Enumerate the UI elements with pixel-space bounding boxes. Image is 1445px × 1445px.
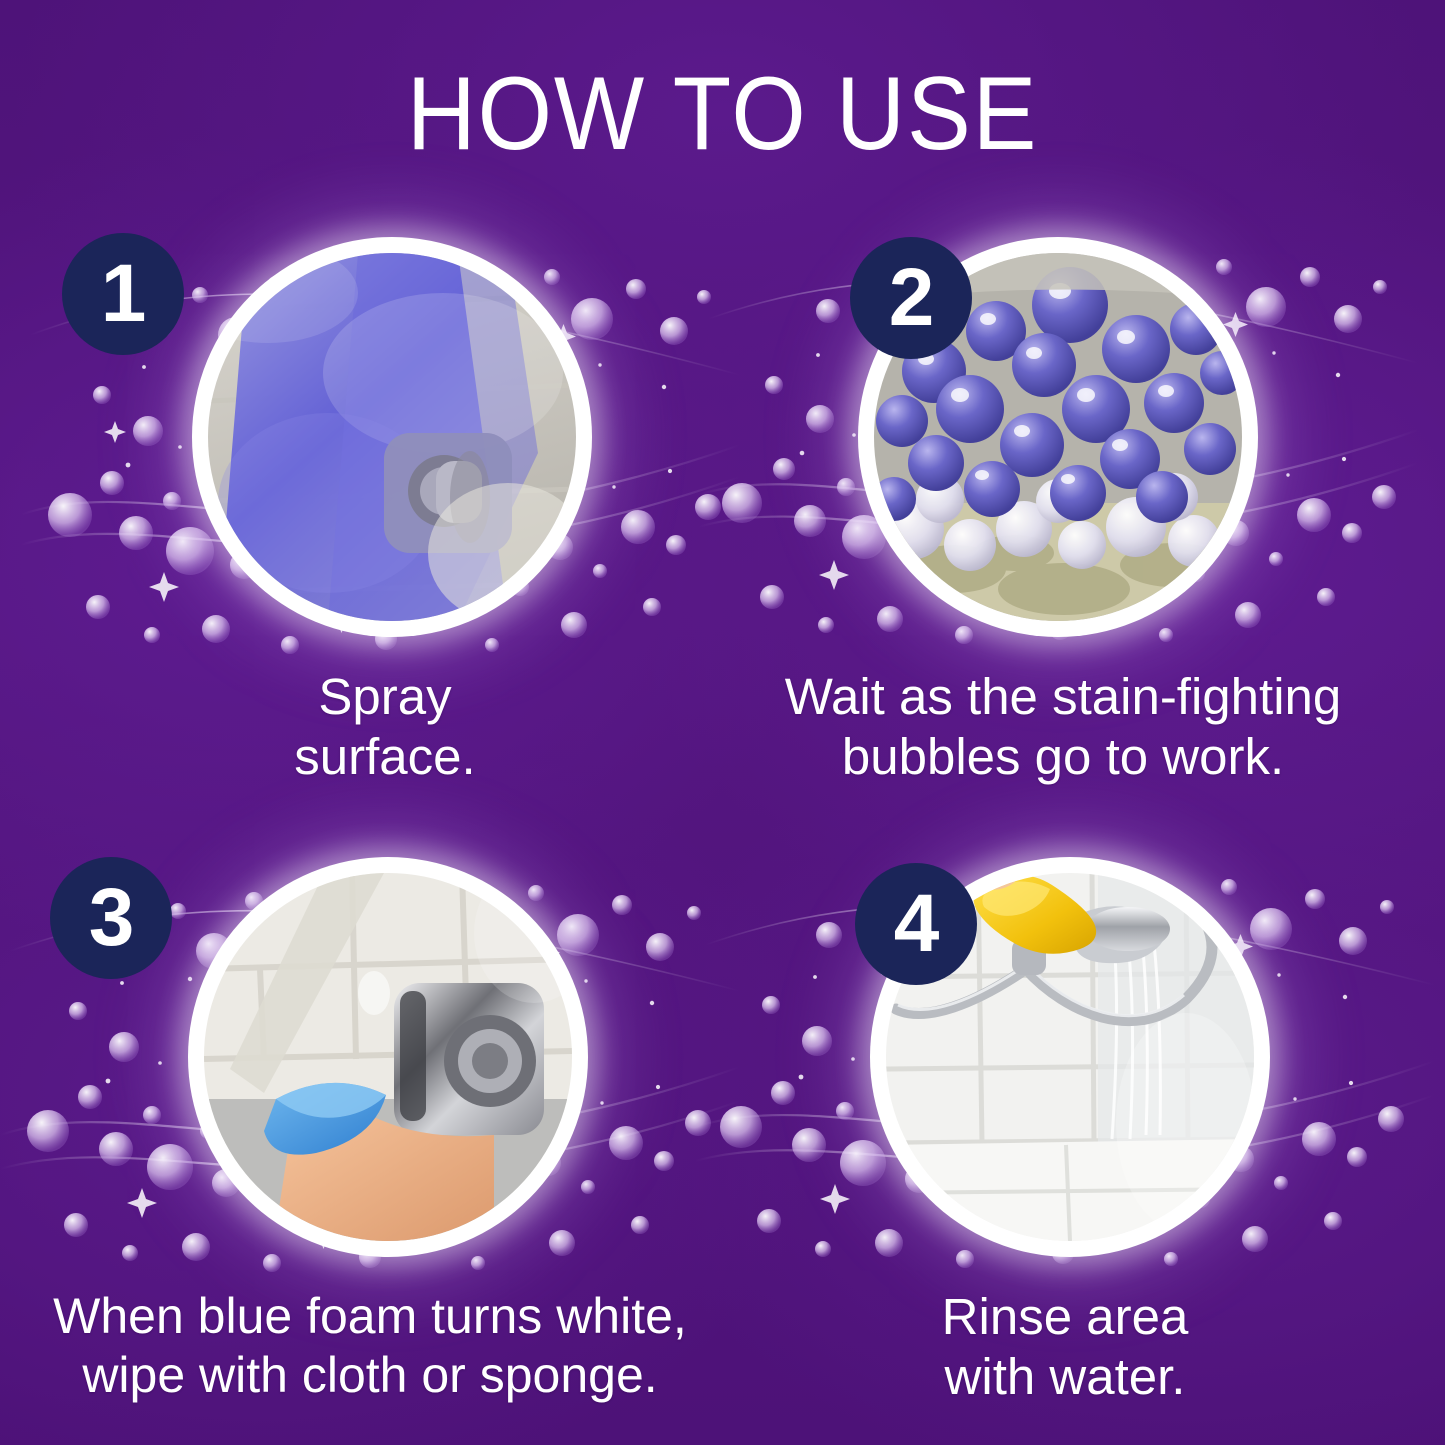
step-caption-line: Spray [40,667,730,727]
step-caption-line: bubbles go to work. [718,727,1408,787]
how-to-use-poster: HOW TO USE [0,0,1445,1445]
step-number-badge-2: 2 [850,237,972,359]
step-caption-line: wipe with cloth or sponge. [20,1346,720,1405]
step-number-badge-3: 3 [50,857,172,979]
step-card-2: 2 Wait as the stain-fighting bubbles go … [718,215,1408,815]
page-title: HOW TO USE [58,62,1387,166]
step-number-badge-4: 4 [855,863,977,985]
step-caption-3: When blue foam turns white, wipe with cl… [20,1287,720,1405]
step-caption-line: Rinse area [715,1287,1415,1347]
step-photo-3 [204,873,572,1241]
step-caption-4: Rinse area with water. [715,1287,1415,1407]
step-card-3: 3 When blue foam turns white, wipe with … [20,835,720,1435]
step-caption-2: Wait as the stain-fighting bubbles go to… [718,667,1408,787]
step-card-4: 4 Rinse area with water. [715,835,1415,1435]
step-caption-line: surface. [40,727,730,787]
step-photo-ring-3 [188,857,588,1257]
step-number-badge-1: 1 [62,233,184,355]
step-caption-line: When blue foam turns white, [20,1287,720,1346]
step-photo-ring-1 [192,237,592,637]
step-caption-1: Spray surface. [40,667,730,787]
step-card-1: 1 Spray surface. [40,215,730,815]
step-caption-line: with water. [715,1347,1415,1407]
step-photo-1 [208,253,576,621]
step-caption-line: Wait as the stain-fighting [718,667,1408,727]
